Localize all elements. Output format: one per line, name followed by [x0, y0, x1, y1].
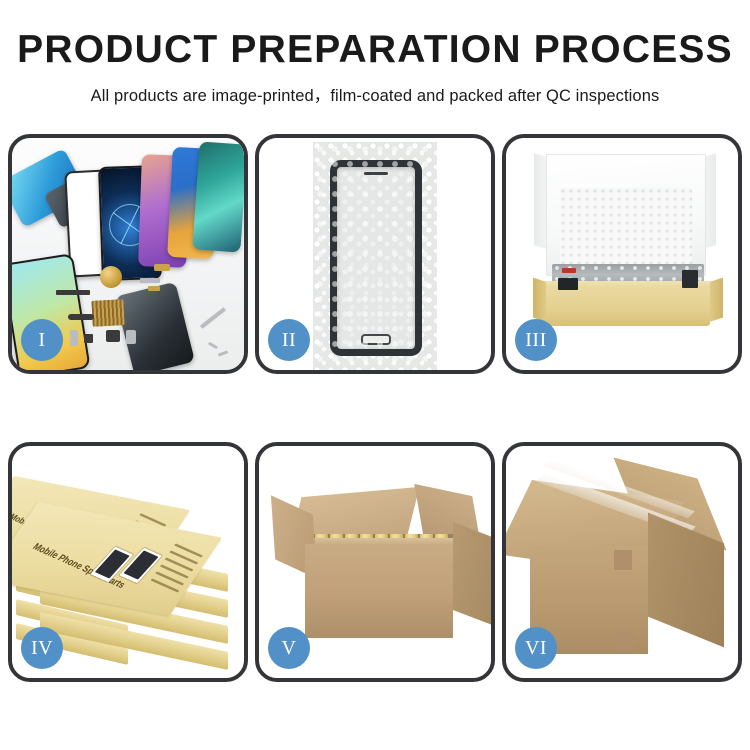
carton-seam-tab — [614, 550, 632, 570]
process-step-grid: I II III — [8, 134, 742, 682]
earpiece-slot — [364, 172, 388, 175]
phone-motherboard — [115, 282, 195, 370]
home-button-cutout — [361, 334, 391, 345]
gold-contact-part — [148, 286, 160, 291]
process-step-4[interactable]: Mobile Phone Spare Parts Mobile Phone Sp… — [8, 442, 248, 682]
phone-screen-frame — [330, 160, 422, 356]
process-step-2[interactable]: II — [255, 134, 495, 374]
black-connector — [558, 278, 578, 290]
gold-component — [100, 266, 122, 288]
teal-phone-screen — [192, 141, 244, 252]
carton-right-side — [453, 522, 491, 626]
process-step-3[interactable]: III — [502, 134, 742, 374]
step-badge-5: V — [268, 627, 310, 669]
step-badge-3: III — [515, 319, 557, 361]
carton-front-panel — [305, 544, 453, 638]
page-title: PRODUCT PREPARATION PROCESS — [0, 30, 750, 71]
flex-cable-part — [56, 290, 90, 295]
red-label — [562, 268, 576, 273]
camera-module-part — [106, 330, 120, 342]
gold-connector-part — [154, 264, 170, 271]
speaker-part — [68, 314, 94, 320]
process-step-5[interactable]: V — [255, 442, 495, 682]
vibrator-part — [126, 330, 136, 344]
page-header: PRODUCT PREPARATION PROCESS All products… — [0, 0, 750, 106]
sim-tray-part — [70, 330, 78, 346]
box-right-side — [708, 278, 723, 323]
process-step-1[interactable]: I — [8, 134, 248, 374]
metal-bracket-part — [140, 278, 160, 283]
step-badge-4: IV — [21, 627, 63, 669]
step-badge-6: VI — [515, 627, 557, 669]
foam-padding — [560, 188, 692, 276]
carton-seam-tab — [616, 632, 634, 650]
tweezers-tool — [200, 307, 226, 329]
step-badge-2: II — [268, 319, 310, 361]
screw-part — [208, 342, 218, 350]
small-ic-part — [84, 334, 93, 343]
black-component — [682, 270, 698, 288]
process-step-6[interactable]: VI — [502, 442, 742, 682]
step-badge-1: I — [21, 319, 63, 361]
chip-array-part — [91, 299, 124, 327]
page-subtitle: All products are image-printed，film-coat… — [0, 82, 750, 106]
box-front-panel — [546, 288, 710, 326]
screw-part — [218, 350, 228, 356]
